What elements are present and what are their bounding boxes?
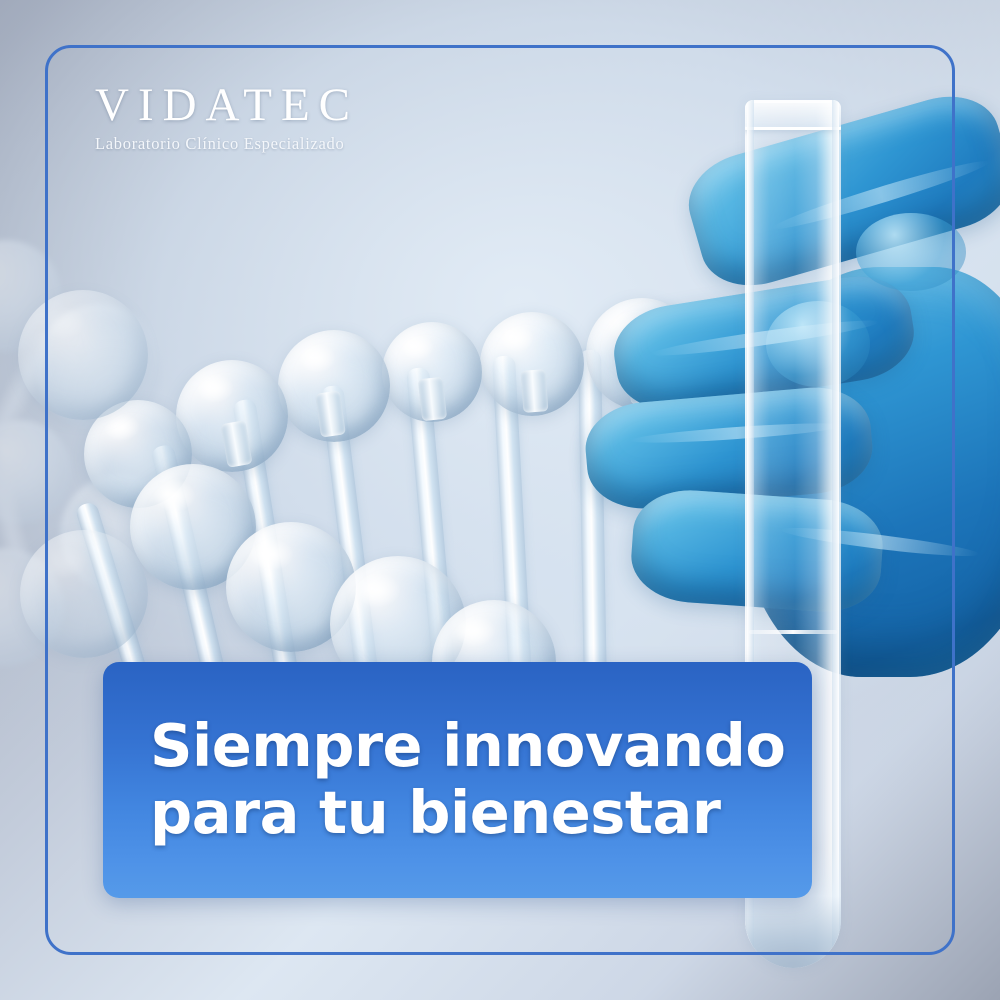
brand-logo: VIDATEC Laboratorio Clínico Especializad… [95, 82, 359, 154]
headline-line-1: Siempre innovando [150, 713, 812, 780]
brand-name: VIDATEC [95, 82, 359, 130]
test-tube-wall-right [832, 100, 839, 968]
brand-tagline: Laboratorio Clínico Especializado [95, 134, 359, 154]
test-tube-rim [745, 100, 841, 130]
headline-line-2: para tu bienestar [150, 780, 812, 847]
headline-banner: Siempre innovando para tu bienestar [103, 662, 812, 898]
social-post-canvas: VIDATEC Laboratorio Clínico Especializad… [0, 0, 1000, 1000]
test-tube-liquid-line [749, 630, 837, 634]
